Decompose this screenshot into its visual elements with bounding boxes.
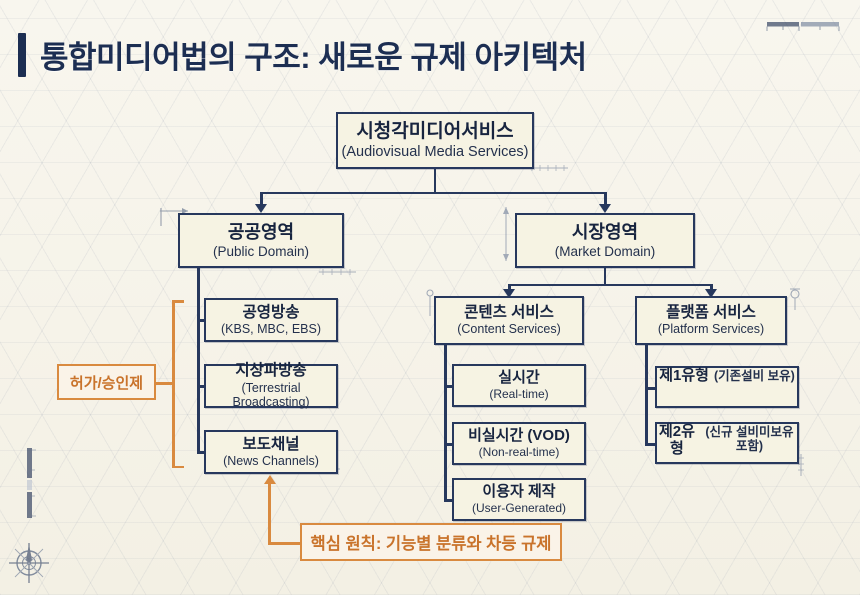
node-title-en: (Audiovisual Media Services)	[342, 144, 529, 161]
node-platform-services[interactable]: 플랫폼 서비스 (Platform Services)	[635, 296, 787, 345]
node-market-domain[interactable]: 시장영역 (Market Domain)	[515, 213, 695, 268]
node-title-ko: 제1유형	[659, 368, 709, 385]
node-public-broadcasting[interactable]: 공영방송 (KBS, MBC, EBS)	[204, 298, 338, 342]
connector-public-spine	[197, 268, 200, 452]
page-title: 통합미디어법의 구조: 새로운 규제 아키텍처	[18, 32, 587, 77]
connector-root-stem	[434, 169, 437, 192]
node-platform-type-2[interactable]: 제2유형 (신규 설비미보유 포함)	[655, 422, 799, 464]
title-accent-bar	[18, 33, 26, 77]
node-title-ko: 비실시간 (VOD)	[468, 428, 570, 445]
measure-mark-center-icon	[499, 205, 513, 265]
node-title-en: (Non-real-time)	[479, 446, 560, 460]
node-title-en: (Real-time)	[489, 388, 548, 402]
node-realtime[interactable]: 실시간 (Real-time)	[452, 364, 586, 407]
arrow-principle-up-icon	[264, 475, 276, 484]
node-title-ko: 실시간	[498, 370, 539, 387]
node-title-en: (KBS, MBC, EBS)	[221, 322, 321, 336]
node-title-ko: 공영방송	[242, 304, 299, 321]
callout-principle-leader	[268, 542, 302, 545]
compass-rose-icon	[6, 540, 52, 586]
node-title-ko: 이용자 제작	[482, 484, 555, 501]
node-public-domain[interactable]: 공공영역 (Public Domain)	[178, 213, 344, 268]
node-title-en: (User-Generated)	[472, 502, 566, 516]
node-title-ko: 콘텐츠 서비스	[464, 304, 554, 321]
ruler-vertical-left-icon	[22, 446, 38, 520]
node-vod[interactable]: 비실시간 (VOD) (Non-real-time)	[452, 422, 586, 465]
slide-canvas: 통합미디어법의 구조: 새로운 규제 아키텍처	[0, 0, 860, 595]
connector-market-stem	[604, 268, 607, 284]
node-title-ko: 시청각미디어서비스	[356, 121, 513, 142]
arrow-root-to-market-icon	[599, 204, 611, 213]
connector-content-spine	[444, 345, 447, 500]
title-text: 통합미디어법의 구조: 새로운 규제 아키텍처	[40, 32, 587, 77]
ruler-scale-top-right-icon	[765, 18, 843, 34]
bracket-license-stem	[156, 382, 174, 385]
node-title-ko: 제2유형	[657, 424, 697, 458]
arrow-root-to-public-icon	[255, 204, 267, 213]
bracket-license-bottom	[172, 466, 184, 469]
node-title-en: (Market Domain)	[555, 244, 656, 260]
measure-mark-platform-icon	[786, 286, 804, 312]
connector-market-bus	[508, 284, 712, 287]
node-audiovisual-media-services[interactable]: 시청각미디어서비스 (Audiovisual Media Services)	[336, 112, 534, 169]
node-title-ko: 시장영역	[572, 222, 638, 242]
annotation-principle-label: 핵심 원칙: 기능별 분류와 차등 규제	[311, 530, 552, 554]
bracket-license-top	[172, 300, 184, 303]
node-title-en: (Content Services)	[457, 322, 561, 336]
node-news-channels[interactable]: 보도채널 (News Channels)	[204, 430, 338, 474]
callout-principle-riser	[268, 484, 271, 544]
node-title-en: (신규 설비미보유 포함)	[702, 425, 797, 454]
node-title-en: (기존설비 보유)	[714, 369, 795, 383]
node-title-ko: 보도채널	[242, 436, 299, 453]
node-title-ko: 공공영역	[228, 222, 294, 242]
node-title-en: (Terrestrial Broadcasting)	[206, 381, 336, 410]
annotation-license-approval[interactable]: 허가/승인제	[57, 364, 156, 400]
node-title-en: (News Channels)	[223, 454, 319, 468]
node-user-generated[interactable]: 이용자 제작 (User-Generated)	[452, 478, 586, 521]
node-title-en: (Public Domain)	[213, 244, 309, 260]
connector-root-bus	[261, 192, 606, 195]
node-content-services[interactable]: 콘텐츠 서비스 (Content Services)	[434, 296, 584, 345]
annotation-license-label: 허가/승인제	[70, 372, 143, 393]
node-terrestrial-broadcasting[interactable]: 지상파방송 (Terrestrial Broadcasting)	[204, 364, 338, 408]
node-title-ko: 지상파방송	[235, 362, 306, 379]
annotation-core-principle[interactable]: 핵심 원칙: 기능별 분류와 차등 규제	[300, 523, 562, 561]
connector-platform-spine	[645, 345, 648, 444]
node-title-en: (Platform Services)	[658, 322, 764, 336]
tick-scale-root-icon	[528, 162, 570, 174]
node-platform-type-1[interactable]: 제1유형 (기존설비 보유)	[655, 366, 799, 408]
node-title-ko: 플랫폼 서비스	[666, 304, 756, 321]
